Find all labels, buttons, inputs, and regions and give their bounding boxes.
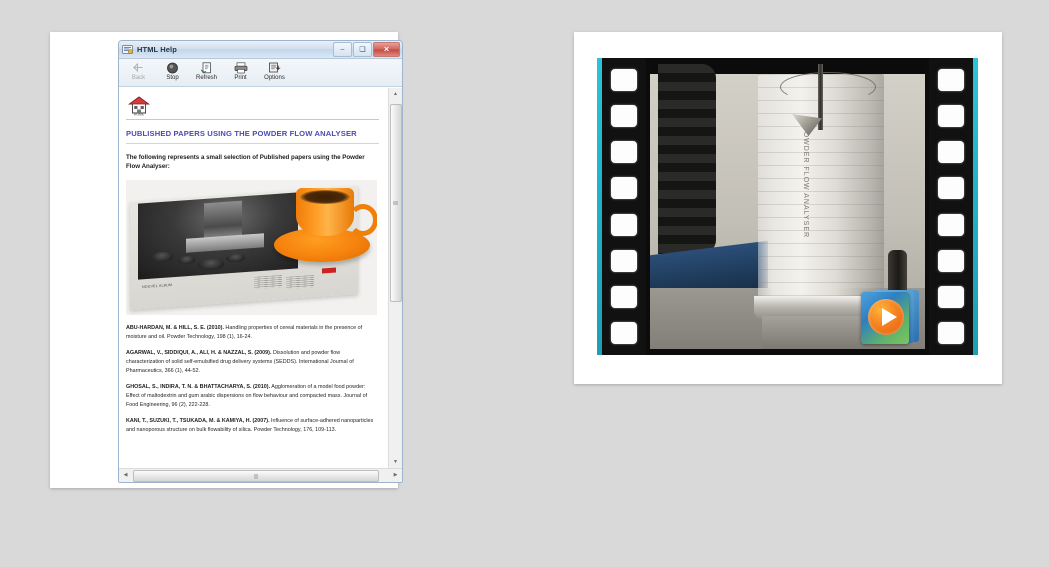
html-help-icon — [122, 44, 133, 55]
print-button[interactable]: Print — [225, 60, 256, 81]
media-player-play-badge[interactable] — [859, 287, 921, 345]
stop-label: Stop — [166, 75, 178, 81]
help-toolbar: Back Stop Refresh — [119, 59, 402, 87]
reference-authors: AGARWAL, V., SIDDIQUI, A., ALI, H. & NAZ… — [126, 350, 271, 356]
page-title: PUBLISHED PAPERS USING THE POWDER FLOW A… — [126, 129, 379, 139]
vertical-scroll-thumb[interactable] — [390, 104, 402, 302]
play-triangle-icon — [882, 308, 897, 326]
coffee-cup-on-newspaper-photo: NOUVEL ALBUM — [126, 180, 377, 315]
scroll-right-button[interactable]: ▶ — [389, 469, 402, 481]
film-strip-video[interactable]: POWDER FLOW ANALYSER — [597, 58, 978, 355]
cylinder-label: POWDER FLOW ANALYSER — [802, 126, 809, 238]
html-help-window: HTML Help – ❑ ✕ Back Stop — [118, 40, 403, 483]
options-button[interactable]: Options — [259, 60, 290, 81]
refresh-icon — [200, 61, 213, 74]
horizontal-scroll-thumb[interactable] — [133, 470, 379, 482]
title-bar[interactable]: HTML Help – ❑ ✕ — [119, 41, 402, 59]
reference-item: AGARWAL, V., SIDDIQUI, A., ALI, H. & NAZ… — [126, 349, 379, 375]
refresh-button[interactable]: Refresh — [191, 60, 222, 81]
printer-icon — [234, 61, 248, 74]
close-button[interactable]: ✕ — [373, 42, 400, 57]
title-divider — [126, 143, 379, 144]
reference-authors: GHOSAL, S., INDIRA, T. N. & BHATTACHARYA… — [126, 384, 270, 390]
content-area: HOME PUBLISHED PAPERS USING THE POWDER F… — [119, 87, 402, 468]
options-icon — [268, 61, 282, 74]
scroll-left-button[interactable]: ◀ — [119, 469, 132, 481]
bellows-hose — [658, 64, 716, 254]
help-document: HOME PUBLISHED PAPERS USING THE POWDER F… — [119, 88, 388, 468]
film-edge-right — [973, 58, 978, 355]
sprocket-holes-left — [602, 58, 646, 355]
options-label: Options — [264, 75, 285, 81]
reference-authors: KANI, T., SUZUKI, T., TSUKADA, M. & KAMI… — [126, 418, 270, 424]
window-controls: – ❑ ✕ — [333, 42, 400, 57]
stop-button[interactable]: Stop — [157, 60, 188, 81]
reference-item: ABU-HARDAN, M. & HILL, S. E. (2010). Han… — [126, 324, 379, 341]
window-title: HTML Help — [137, 45, 177, 54]
scroll-down-button[interactable]: ▼ — [389, 456, 402, 468]
back-button[interactable]: Back — [123, 60, 154, 81]
print-label: Print — [234, 75, 246, 81]
back-arrow-icon — [132, 61, 145, 74]
back-label: Back — [132, 75, 145, 81]
refresh-label: Refresh — [196, 75, 217, 81]
home-divider — [126, 119, 379, 120]
reference-authors: ABU-HARDAN, M. & HILL, S. E. (2010). — [126, 325, 224, 331]
reference-item: GHOSAL, S., INDIRA, T. N. & BHATTACHARYA… — [126, 383, 379, 409]
home-icon[interactable]: HOME — [128, 96, 150, 116]
reference-item: KANI, T., SUZUKI, T., TSUKADA, M. & KAMI… — [126, 417, 379, 434]
wire-loop — [780, 72, 876, 102]
stop-icon — [166, 61, 179, 74]
horizontal-scrollbar[interactable]: ◀ ▶ — [119, 468, 402, 482]
minimize-button[interactable]: – — [333, 42, 352, 57]
svg-text:HOME: HOME — [134, 113, 145, 116]
scroll-up-button[interactable]: ▲ — [389, 88, 402, 100]
maximize-button[interactable]: ❑ — [353, 42, 372, 57]
vertical-scrollbar[interactable]: ▲ ▼ — [388, 88, 402, 468]
intro-paragraph: The following represents a small selecti… — [126, 153, 379, 172]
sprocket-holes-right — [929, 58, 973, 355]
video-frame-powder-flow-analyser[interactable]: POWDER FLOW ANALYSER — [650, 64, 925, 349]
